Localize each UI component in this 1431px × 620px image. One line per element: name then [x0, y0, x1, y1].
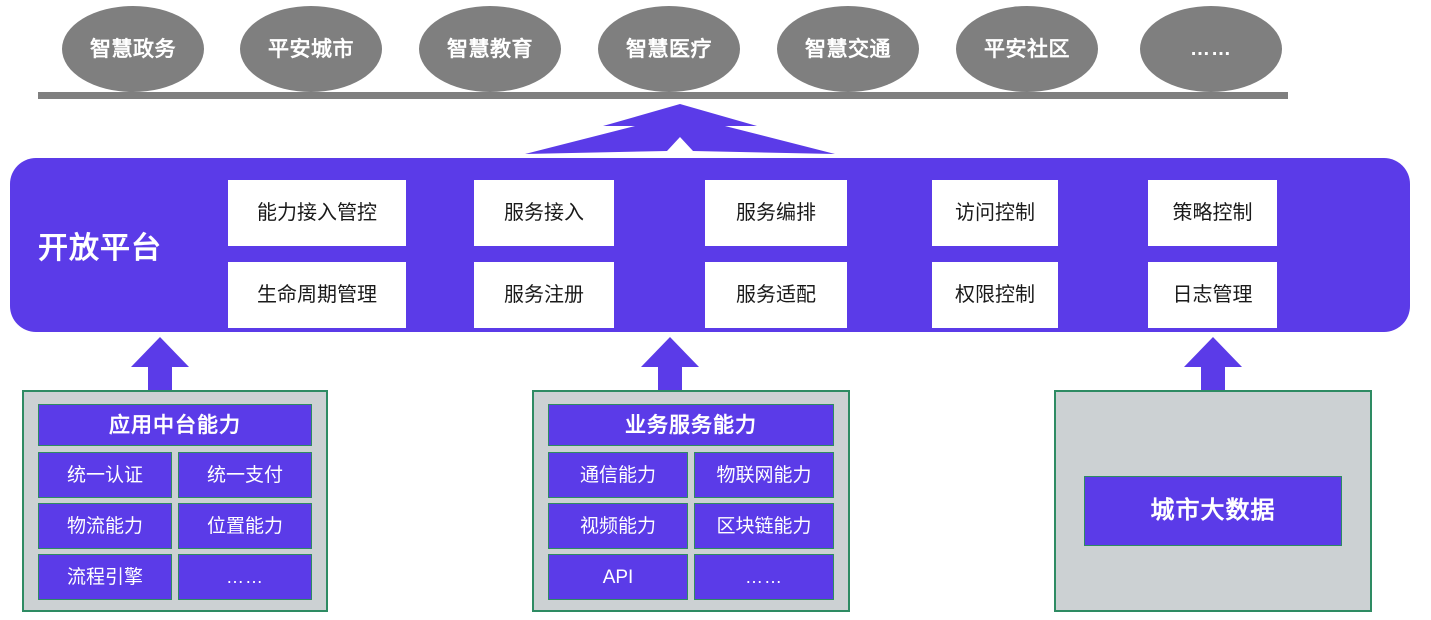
capability-chip[interactable]: 物联网能力	[694, 452, 834, 498]
capability-chip-grid: 通信能力物联网能力视频能力区块链能力API……	[548, 452, 834, 600]
arrow-bigdata-to-platform	[1184, 337, 1242, 393]
arrow-business-service-to-platform	[641, 337, 699, 393]
capability-chip[interactable]: 位置能力	[178, 503, 312, 549]
application-ellipse[interactable]: 平安城市	[240, 6, 382, 92]
application-label: 平安城市	[268, 39, 354, 60]
capability-chip-label: 统一支付	[207, 466, 283, 485]
capability-chip-label: 视频能力	[580, 517, 656, 536]
application-label: ……	[1190, 39, 1232, 59]
capability-chip-label: 区块链能力	[716, 517, 811, 536]
platform-capability-box-top[interactable]: 服务接入	[474, 180, 614, 246]
applications-baseline	[38, 92, 1288, 99]
capability-chip[interactable]: 物流能力	[38, 503, 172, 549]
open-platform-panel: 开放平台 能力接入管控生命周期管理服务接入服务注册服务编排服务适配访问控制权限控…	[10, 158, 1410, 332]
platform-capability-box-top[interactable]: 能力接入管控	[228, 180, 406, 246]
platform-capability-box-bottom[interactable]: 权限控制	[932, 262, 1058, 328]
platform-capability-box-bottom[interactable]: 日志管理	[1148, 262, 1277, 328]
application-ellipse[interactable]: ……	[1140, 6, 1282, 92]
platform-capability-label: 服务适配	[736, 285, 816, 305]
capability-card: 应用中台能力统一认证统一支付物流能力位置能力流程引擎……	[22, 390, 328, 612]
platform-title: 开放平台	[38, 223, 162, 267]
platform-capability-box-top[interactable]: 服务编排	[705, 180, 847, 246]
capability-chip[interactable]: 视频能力	[548, 503, 688, 549]
platform-capability-box-bottom[interactable]: 服务适配	[705, 262, 847, 328]
capability-card-header: 业务服务能力	[548, 404, 834, 446]
platform-capability-label: 服务编排	[736, 203, 816, 223]
capability-card-title: 应用中台能力	[109, 415, 241, 436]
capability-chip-label: 位置能力	[207, 517, 283, 536]
platform-capability-label: 能力接入管控	[257, 203, 377, 223]
platform-capability-label: 服务注册	[504, 285, 584, 305]
capability-chip[interactable]: ……	[694, 554, 834, 600]
capability-chip[interactable]: 通信能力	[548, 452, 688, 498]
platform-capability-label: 访问控制	[955, 203, 1035, 223]
capability-chip[interactable]: ……	[178, 554, 312, 600]
capability-card-header: 应用中台能力	[38, 404, 312, 446]
platform-capability-box-top[interactable]: 策略控制	[1148, 180, 1277, 246]
capability-chip[interactable]: API	[548, 554, 688, 600]
arrow-platform-to-applications	[525, 104, 835, 156]
capability-card: 业务服务能力通信能力物联网能力视频能力区块链能力API……	[532, 390, 850, 612]
application-ellipse[interactable]: 智慧交通	[777, 6, 919, 92]
architecture-diagram: 智慧政务平安城市智慧教育智慧医疗智慧交通平安社区…… 开放平台 能力接入管控生命…	[0, 0, 1431, 620]
platform-capability-box-top[interactable]: 访问控制	[932, 180, 1058, 246]
platform-capability-label: 日志管理	[1173, 285, 1253, 305]
platform-capability-label: 策略控制	[1173, 203, 1253, 223]
capability-chip-label: 通信能力	[580, 466, 656, 485]
capability-chip[interactable]: 区块链能力	[694, 503, 834, 549]
platform-capability-box-bottom[interactable]: 生命周期管理	[228, 262, 406, 328]
application-ellipse[interactable]: 平安社区	[956, 6, 1098, 92]
capability-chip[interactable]: 统一支付	[178, 452, 312, 498]
application-label: 智慧交通	[805, 39, 891, 60]
capability-chip-grid: 统一认证统一支付物流能力位置能力流程引擎……	[38, 452, 312, 600]
application-ellipse[interactable]: 智慧医疗	[598, 6, 740, 92]
capability-chip-label: 物流能力	[67, 517, 143, 536]
capability-chip-label: 物联网能力	[716, 466, 811, 485]
application-ellipse[interactable]: 智慧教育	[419, 6, 561, 92]
capability-chip-label: 统一认证	[67, 466, 143, 485]
capability-chip-label: 流程引擎	[67, 568, 143, 587]
application-label: 智慧政务	[90, 39, 176, 60]
capability-chip[interactable]: 统一认证	[38, 452, 172, 498]
city-bigdata-card: 城市大数据	[1054, 390, 1372, 612]
application-label: 智慧医疗	[626, 39, 712, 60]
platform-capability-label: 权限控制	[955, 285, 1035, 305]
capability-chip-label: API	[603, 568, 634, 587]
platform-capability-label: 生命周期管理	[257, 285, 377, 305]
platform-capability-box-bottom[interactable]: 服务注册	[474, 262, 614, 328]
capability-chip-label: ……	[745, 568, 783, 586]
capability-card-title: 业务服务能力	[625, 415, 757, 436]
capability-chip[interactable]: 流程引擎	[38, 554, 172, 600]
city-bigdata-label: 城市大数据	[1151, 499, 1276, 523]
application-label: 智慧教育	[447, 39, 533, 60]
arrow-app-middle-to-platform	[131, 337, 189, 393]
application-ellipse[interactable]: 智慧政务	[62, 6, 204, 92]
capability-chip-label: ……	[226, 568, 264, 586]
city-bigdata-box[interactable]: 城市大数据	[1084, 476, 1342, 546]
application-label: 平安社区	[984, 39, 1070, 60]
platform-capability-label: 服务接入	[504, 203, 584, 223]
